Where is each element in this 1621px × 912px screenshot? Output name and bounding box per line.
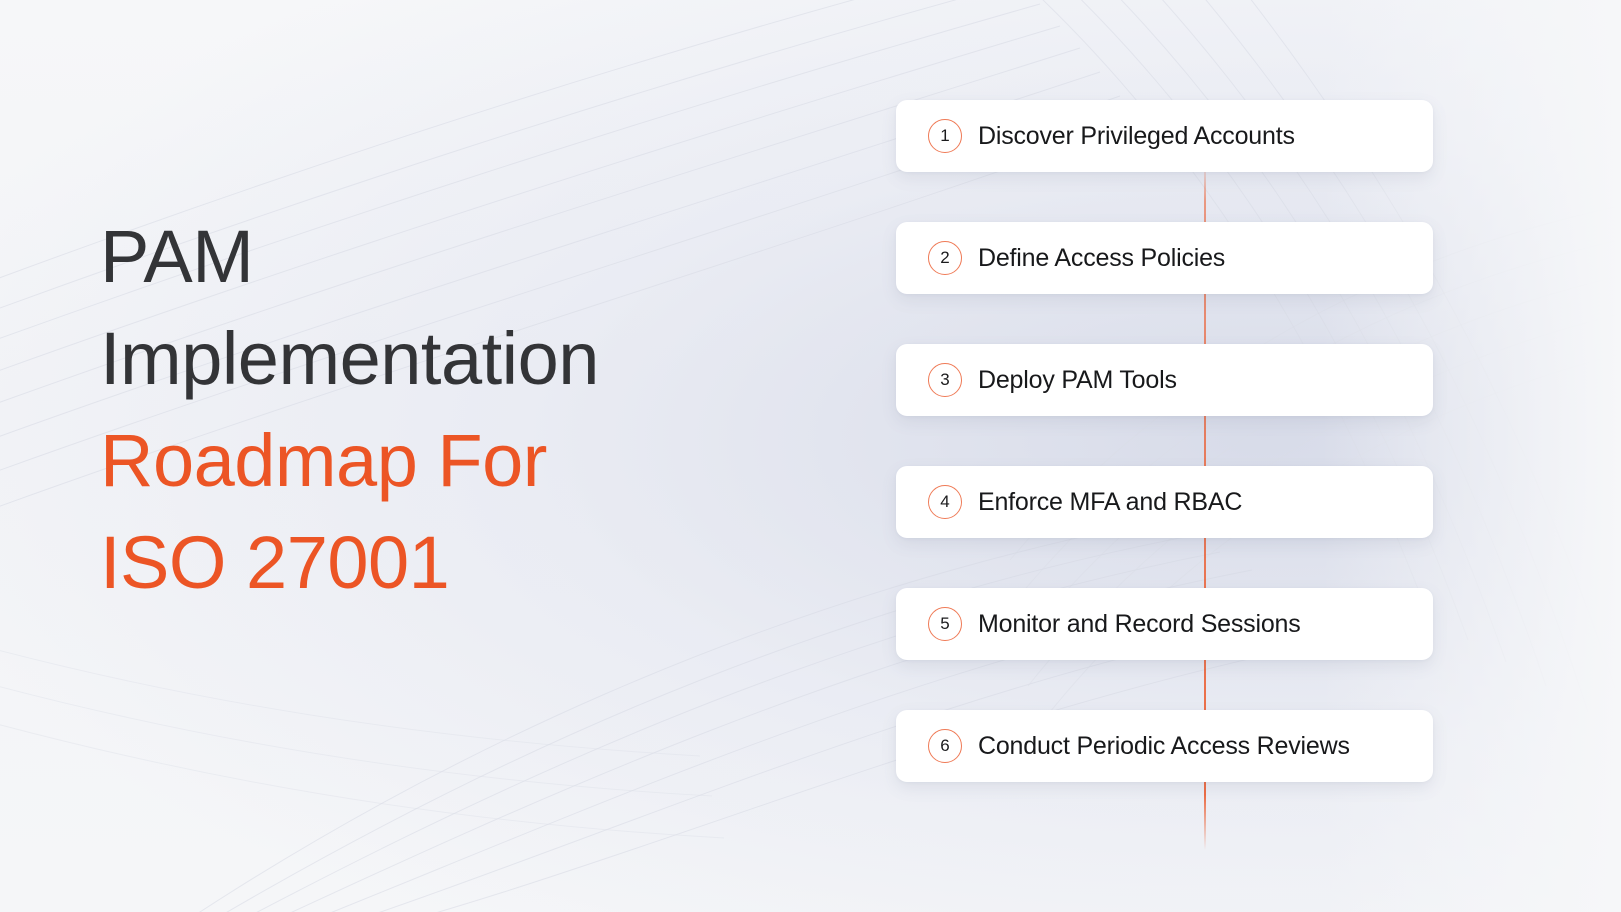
- step-number-badge: 1: [928, 119, 962, 153]
- roadmap-step-6[interactable]: 6 Conduct Periodic Access Reviews: [896, 710, 1433, 782]
- step-number-badge: 5: [928, 607, 962, 641]
- title-line-3: Roadmap For: [100, 410, 820, 512]
- step-label: Enforce MFA and RBAC: [978, 488, 1242, 517]
- step-label: Conduct Periodic Access Reviews: [978, 732, 1350, 761]
- page-title: PAM Implementation Roadmap For ISO 27001: [100, 206, 820, 614]
- step-number-badge: 2: [928, 241, 962, 275]
- step-number-badge: 6: [928, 729, 962, 763]
- step-label: Monitor and Record Sessions: [978, 610, 1301, 639]
- infographic-canvas: PAM Implementation Roadmap For ISO 27001…: [0, 0, 1621, 912]
- step-label: Define Access Policies: [978, 244, 1225, 273]
- roadmap-step-1[interactable]: 1 Discover Privileged Accounts: [896, 100, 1433, 172]
- title-line-4: ISO 27001: [100, 512, 820, 614]
- step-label: Deploy PAM Tools: [978, 366, 1177, 395]
- title-line-2: Implementation: [100, 308, 820, 410]
- roadmap-step-5[interactable]: 5 Monitor and Record Sessions: [896, 588, 1433, 660]
- step-number-badge: 4: [928, 485, 962, 519]
- title-line-1: PAM: [100, 206, 820, 308]
- step-label: Discover Privileged Accounts: [978, 122, 1295, 151]
- roadmap-step-list: 1 Discover Privileged Accounts 2 Define …: [896, 100, 1433, 782]
- roadmap-step-4[interactable]: 4 Enforce MFA and RBAC: [896, 466, 1433, 538]
- step-number-badge: 3: [928, 363, 962, 397]
- roadmap-step-2[interactable]: 2 Define Access Policies: [896, 222, 1433, 294]
- roadmap-step-3[interactable]: 3 Deploy PAM Tools: [896, 344, 1433, 416]
